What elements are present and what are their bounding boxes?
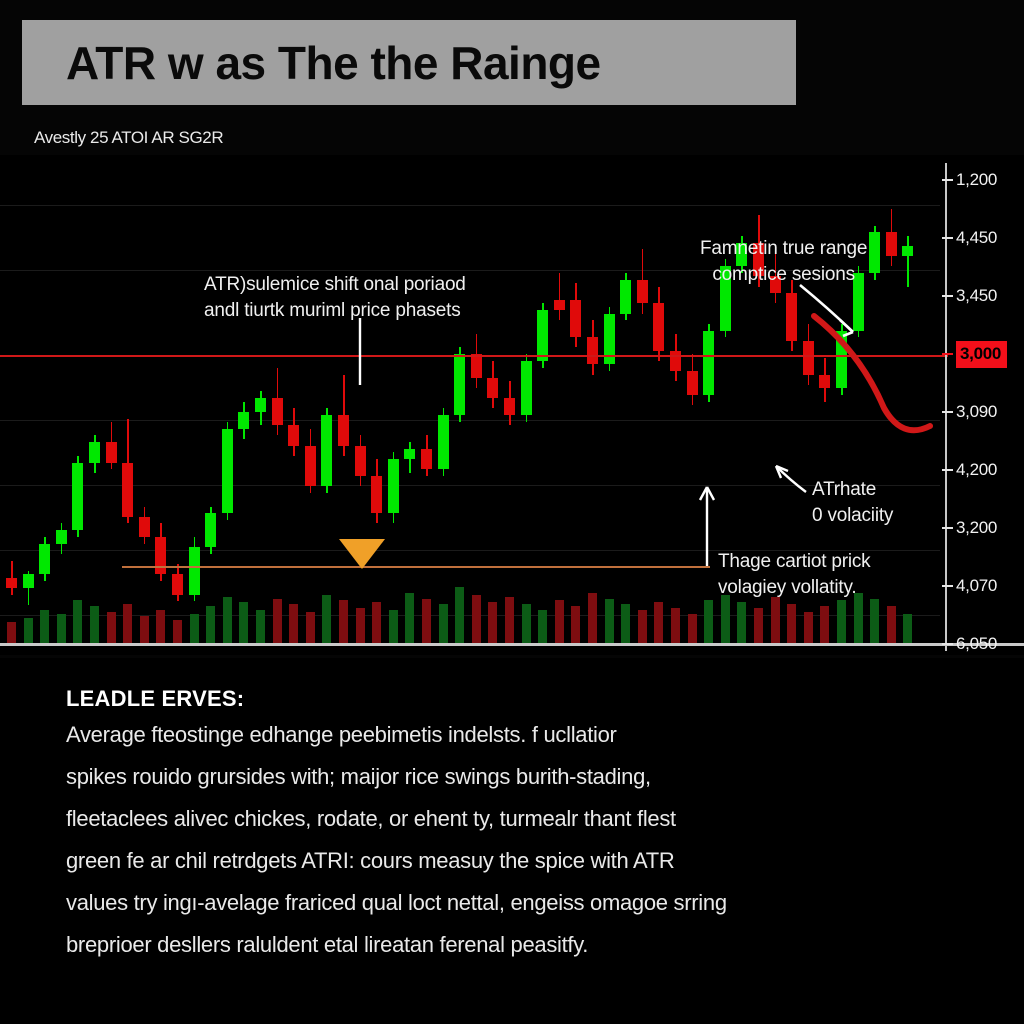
candlestick: [72, 155, 83, 655]
candle-body: [620, 280, 631, 314]
candlestick: [56, 155, 67, 655]
candlestick: [604, 155, 615, 655]
tick-label: 3,200: [956, 518, 997, 538]
candlestick: [637, 155, 648, 655]
annotation-bottom: Thage cartiot prick volagiey vollatity.: [718, 549, 871, 601]
axis-tick: 3,200: [940, 517, 997, 539]
candlestick: [653, 155, 664, 655]
tick-dash: [942, 237, 953, 239]
annotation-right-line2: 0 volaciity: [812, 503, 893, 529]
atr-shift-marker-icon: [339, 539, 385, 569]
volume-bar: [256, 610, 265, 643]
axis-tick: 1,200: [940, 169, 997, 191]
volume-bar: [405, 593, 414, 643]
volume-bar: [754, 608, 763, 643]
volume-bar: [472, 595, 481, 643]
volume-bar: [389, 610, 398, 643]
current-price-tag: 3,000: [956, 341, 1007, 368]
candle-body: [89, 442, 100, 462]
tick-label: 4,450: [956, 228, 997, 248]
candlestick: [288, 155, 299, 655]
volume-bar: [422, 599, 431, 643]
tick-label: 4,200: [956, 460, 997, 480]
candle-body: [836, 331, 847, 389]
candlestick: [205, 155, 216, 655]
annotation-left: ATR)sulemice shift onal poriaod andl tiu…: [204, 272, 466, 324]
axis-tick: 3,090: [940, 401, 997, 423]
notes-line: Average fteostinge edhange peebimetis in…: [66, 722, 946, 748]
volume-bar: [223, 597, 232, 643]
candle-body: [238, 412, 249, 429]
candlestick: [554, 155, 565, 655]
subtitle: Avestly 25 ATOI AR SG2R: [34, 128, 223, 148]
notes-heading: LEADLE ERVES:: [66, 686, 244, 712]
candlestick: [703, 155, 714, 655]
volume-bar: [638, 610, 647, 643]
candlestick: [438, 155, 449, 655]
tick-dash: [942, 643, 953, 645]
candle-body: [189, 547, 200, 594]
candle-body: [39, 544, 50, 574]
axis-tick: 4,450: [940, 227, 997, 249]
candlestick: [139, 155, 150, 655]
candle-body: [172, 574, 183, 594]
candlestick: [39, 155, 50, 655]
candle-body: [23, 574, 34, 588]
volume-bar: [721, 595, 730, 643]
volume-bar: [57, 614, 66, 643]
tick-label: 1,200: [956, 170, 997, 190]
candle-body: [537, 310, 548, 361]
candle-body: [454, 354, 465, 415]
candle-wick: [907, 236, 909, 287]
candle-body: [122, 463, 133, 517]
candlestick: [23, 155, 34, 655]
candle-body: [355, 446, 366, 476]
volume-bar: [538, 610, 547, 643]
volume-bar: [820, 606, 829, 643]
candle-body: [521, 361, 532, 415]
volume-bar: [206, 606, 215, 643]
candle-body: [272, 398, 283, 425]
volume-bar: [804, 612, 813, 643]
candle-body: [155, 537, 166, 574]
volume-bar: [439, 604, 448, 643]
annotation-left-line2: andl tiurtk muriml price phasets: [204, 298, 466, 324]
candlestick: [886, 155, 897, 655]
candle-body: [6, 578, 17, 588]
volume-bar: [339, 600, 348, 643]
candle-body: [288, 425, 299, 445]
volume-bar: [90, 606, 99, 643]
tick-dash: [942, 411, 953, 413]
volume-bar: [107, 612, 116, 643]
candlestick: [338, 155, 349, 655]
candle-body: [471, 354, 482, 378]
volume-bar: [24, 618, 33, 643]
volume-bar: [621, 604, 630, 643]
tick-dash: [942, 179, 953, 181]
price-level-line: [0, 355, 948, 357]
candle-body: [637, 280, 648, 304]
candle-body: [222, 429, 233, 514]
volume-bar: [372, 602, 381, 643]
candle-wick: [559, 273, 561, 320]
candle-body: [438, 415, 449, 469]
tick-dash: [942, 353, 953, 355]
candlestick: [587, 155, 598, 655]
candle-body: [570, 300, 581, 337]
volume-bar: [306, 612, 315, 643]
volume-bar: [903, 614, 912, 643]
candlestick: [238, 155, 249, 655]
candlestick: [355, 155, 366, 655]
notes-line: breprioer desllers raluldent etal lireat…: [66, 932, 946, 958]
volume-bar: [704, 600, 713, 643]
volume-bar: [771, 597, 780, 643]
candle-body: [388, 459, 399, 513]
page-title: ATR w as The the Rainge: [66, 36, 601, 90]
annotation-top-right: Famnetin true range comptice sesions: [700, 236, 867, 288]
candle-body: [321, 415, 332, 486]
volume-bar: [787, 604, 796, 643]
candle-body: [587, 337, 598, 364]
candlestick: [421, 155, 432, 655]
volume-bar: [571, 606, 580, 643]
candle-body: [886, 232, 897, 256]
volume-bar: [73, 600, 82, 643]
volume-bar: [688, 614, 697, 643]
volume-bar: [505, 597, 514, 643]
notes-panel: LEADLE ERVES: Average fteostinge edhange…: [0, 658, 1024, 1024]
candlestick: [902, 155, 913, 655]
volume-bar: [7, 622, 16, 643]
volume-bar: [123, 604, 132, 643]
volume-bar: [140, 616, 149, 643]
candlestick: [189, 155, 200, 655]
candlestick: [89, 155, 100, 655]
volume-bar: [887, 606, 896, 643]
candlestick: [404, 155, 415, 655]
notes-line: fleetaclees alivec chickes, rodate, or e…: [66, 806, 946, 832]
volume-bar: [522, 604, 531, 643]
tick-dash: [942, 469, 953, 471]
candlestick: [255, 155, 266, 655]
notes-line: values try ingı-avelage frariced qual lo…: [66, 890, 946, 916]
volume-bar: [737, 602, 746, 643]
candle-body: [653, 303, 664, 350]
candlestick: [487, 155, 498, 655]
candle-body: [504, 398, 515, 415]
axis-tick: 3,000: [940, 343, 1007, 365]
annotation-left-line1: ATR)sulemice shift onal poriaod: [204, 272, 466, 298]
tick-label: 3,090: [956, 402, 997, 422]
tick-label: 4,070: [956, 576, 997, 596]
volume-bar: [40, 610, 49, 643]
volume-bar: [190, 614, 199, 643]
candle-body: [703, 331, 714, 395]
tick-dash: [942, 295, 953, 297]
tick-label: 3,450: [956, 286, 997, 306]
axis-tick: 4,200: [940, 459, 997, 481]
candle-body: [803, 341, 814, 375]
tick-label: 6,050: [956, 634, 997, 654]
candlestick: [521, 155, 532, 655]
volume-bar: [671, 608, 680, 643]
candlestick: [172, 155, 183, 655]
candlestick: [537, 155, 548, 655]
annotation-right-line1: ATrhate: [812, 477, 893, 503]
candlestick: [222, 155, 233, 655]
support-line: [122, 566, 710, 568]
candlestick: [471, 155, 482, 655]
candlestick: [620, 155, 631, 655]
candle-body: [554, 300, 565, 310]
candle-body: [255, 398, 266, 412]
annotation-right: ATrhate 0 volaciity: [812, 477, 893, 529]
volume-bar: [273, 599, 282, 643]
candle-body: [56, 530, 67, 544]
candlestick: [122, 155, 133, 655]
volume-bar: [289, 604, 298, 643]
notes-line: green fe ar chil retrdgets ATRI: cours m…: [66, 848, 946, 874]
annotation-top-right-line2: comptice sesions: [700, 262, 867, 288]
axis-tick: 3,450: [940, 285, 997, 307]
candle-body: [338, 415, 349, 445]
axis-tick: 6,050: [940, 633, 997, 655]
candlestick: [272, 155, 283, 655]
candle-body: [106, 442, 117, 462]
annotation-bottom-line1: Thage cartiot prick: [718, 549, 871, 575]
volume-bar: [322, 595, 331, 643]
candlestick: [670, 155, 681, 655]
volume-bar: [488, 602, 497, 643]
candle-body: [205, 513, 216, 547]
axis-tick: 4,070: [940, 575, 997, 597]
candlestick: [570, 155, 581, 655]
candle-body: [371, 476, 382, 513]
volume-bar: [455, 587, 464, 643]
title-banner: ATR w as The the Rainge: [22, 20, 796, 105]
annotation-top-right-line1: Famnetin true range: [700, 236, 867, 262]
price-axis[interactable]: 1,2004,4503,4503,0003,0904,2003,2004,070…: [940, 155, 1024, 655]
candlestick: [321, 155, 332, 655]
candle-body: [487, 378, 498, 398]
candlestick: [687, 155, 698, 655]
notes-body: Average fteostinge edhange peebimetis in…: [66, 722, 946, 974]
tick-dash: [942, 527, 953, 529]
candle-body: [819, 375, 830, 389]
candle-body: [404, 449, 415, 459]
candle-body: [305, 446, 316, 487]
candlestick: [305, 155, 316, 655]
volume-bar: [870, 599, 879, 643]
annotation-bottom-line2: volagiey vollatity.: [718, 575, 871, 601]
volume-bar: [173, 620, 182, 643]
candlestick: [155, 155, 166, 655]
candle-body: [869, 232, 880, 273]
candle-body: [902, 246, 913, 256]
candlestick: [869, 155, 880, 655]
volume-baseline: [0, 643, 1024, 646]
candlestick: [388, 155, 399, 655]
notes-line: spikes rouido grursides with; maijor ric…: [66, 764, 946, 790]
volume-bar: [605, 599, 614, 643]
volume-bar: [588, 593, 597, 643]
candlestick: [454, 155, 465, 655]
screenshot-root: ATR w as The the Rainge Avestly 25 ATOI …: [0, 0, 1024, 1024]
volume-bar: [837, 600, 846, 643]
candle-body: [786, 293, 797, 340]
volume-bar: [156, 610, 165, 643]
volume-bar: [356, 608, 365, 643]
candle-body: [687, 371, 698, 395]
volume-bar: [555, 600, 564, 643]
candlestick: [106, 155, 117, 655]
candlestick: [371, 155, 382, 655]
candle-body: [670, 351, 681, 371]
candle-body: [72, 463, 83, 531]
candlestick: [504, 155, 515, 655]
volume-bar: [239, 602, 248, 643]
candle-body: [421, 449, 432, 469]
candlestick: [6, 155, 17, 655]
volume-bar: [654, 602, 663, 643]
tick-dash: [942, 585, 953, 587]
candle-body: [139, 517, 150, 537]
